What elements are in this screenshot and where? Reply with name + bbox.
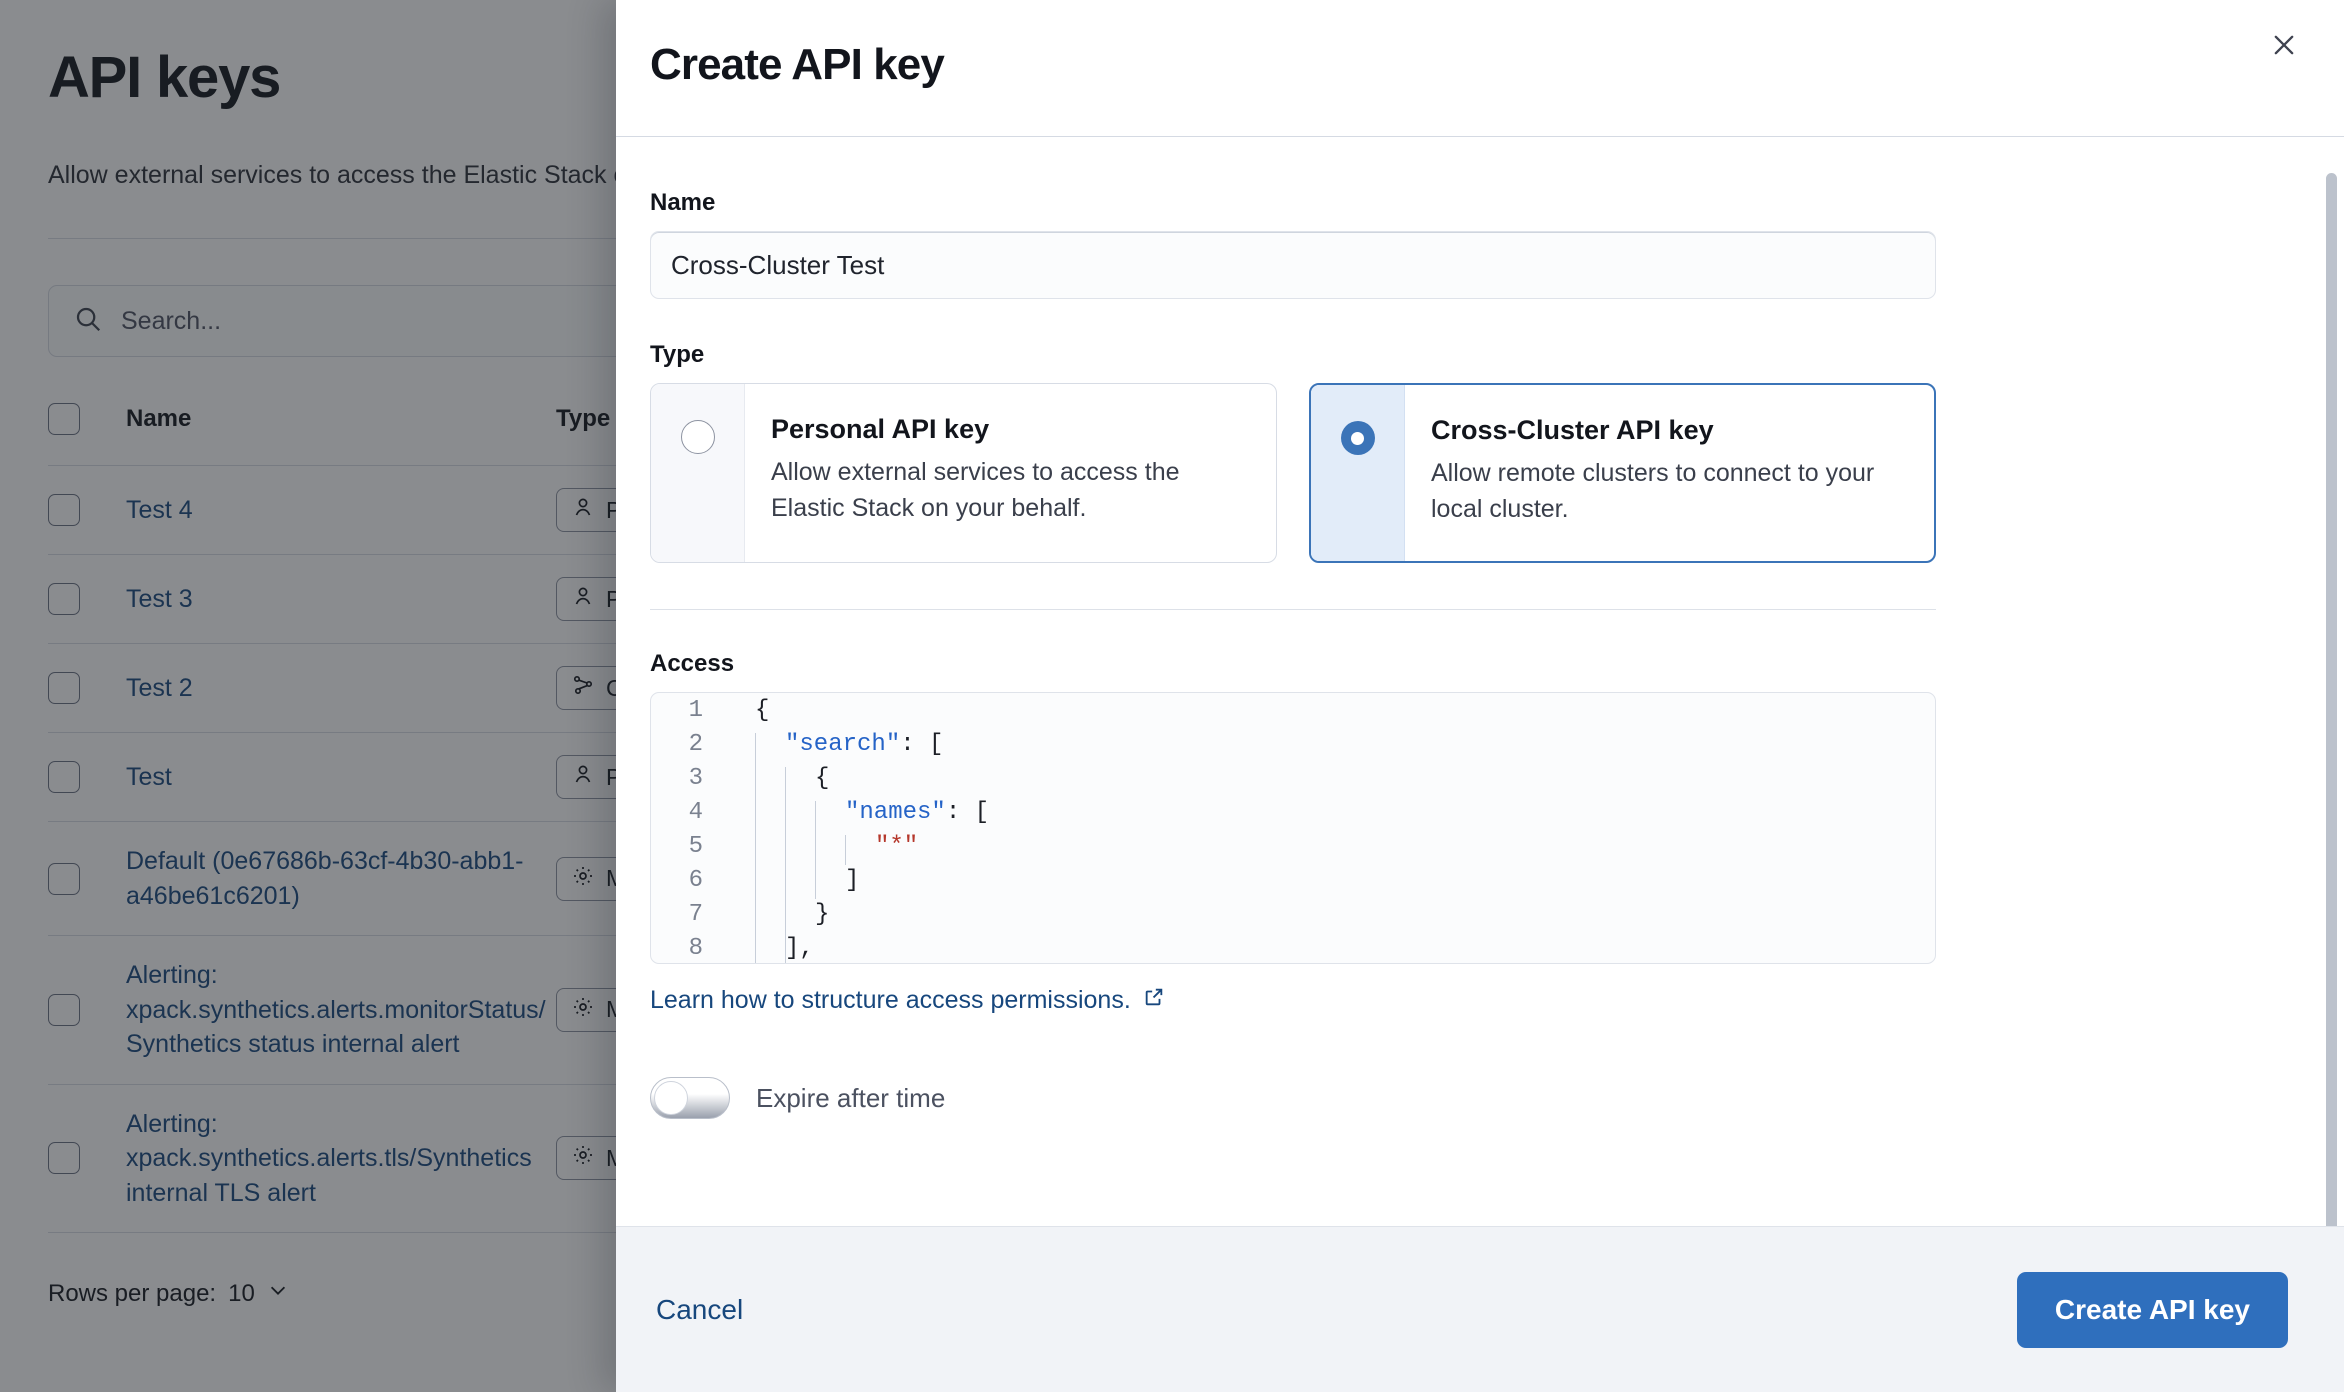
- cancel-button[interactable]: Cancel: [656, 1294, 743, 1326]
- code-token: ]: [845, 867, 859, 894]
- name-field-group: Name: [650, 189, 1936, 299]
- flyout-body: Name Type Personal API key Allow externa…: [616, 137, 2344, 1226]
- code-line: 7}: [651, 897, 1935, 931]
- radio-card-title: Personal API key: [771, 414, 1250, 445]
- expire-after-time-label: Expire after time: [756, 1083, 945, 1114]
- learn-permissions-link-text: Learn how to structure access permission…: [650, 986, 1131, 1015]
- flyout-footer: Cancel Create API key: [616, 1226, 2344, 1392]
- code-token: : [: [946, 799, 989, 826]
- line-number: 6: [651, 867, 729, 894]
- code-token: "search": [785, 731, 900, 758]
- code-token: {: [755, 697, 769, 724]
- radio-card-description: Allow remote clusters to connect to your…: [1431, 456, 1908, 527]
- line-number: 4: [651, 799, 729, 826]
- code-text: {: [755, 697, 769, 724]
- radio-zone: [1311, 385, 1405, 561]
- code-line: 1{: [651, 693, 1935, 727]
- indent-guide: [755, 733, 756, 964]
- radio-zone: [651, 384, 745, 562]
- code-text: ],: [785, 935, 814, 962]
- flyout-scrollbar[interactable]: [2324, 163, 2338, 1208]
- code-line: 8],: [651, 931, 1935, 964]
- code-text: ]: [845, 867, 859, 894]
- line-number: 3: [651, 765, 729, 792]
- section-divider: [650, 609, 1936, 610]
- content-fade-mask: [616, 1178, 2344, 1226]
- access-field-group: Access 1{2"search": [3{4"names": [5"*"6]…: [650, 650, 1936, 1015]
- code-token: "names": [845, 799, 946, 826]
- expire-after-time-toggle[interactable]: [650, 1077, 730, 1119]
- close-button[interactable]: [2256, 18, 2312, 74]
- code-text: "*": [875, 833, 918, 860]
- access-code-editor[interactable]: 1{2"search": [3{4"names": [5"*"6]7}8],9"…: [650, 692, 1936, 964]
- code-text: {: [815, 765, 829, 792]
- code-token: : [: [900, 731, 943, 758]
- line-number: 1: [651, 697, 729, 724]
- learn-permissions-link[interactable]: Learn how to structure access permission…: [650, 986, 1165, 1015]
- access-label: Access: [650, 650, 1936, 678]
- type-label: Type: [650, 341, 1936, 369]
- code-line: 2"search": [: [651, 727, 1935, 761]
- indent-guide: [845, 835, 846, 865]
- name-input[interactable]: [650, 231, 1936, 299]
- name-label: Name: [650, 189, 1936, 217]
- close-icon: [2270, 31, 2298, 62]
- line-number: 5: [651, 833, 729, 860]
- code-line: 4"names": [: [651, 795, 1935, 829]
- radio-selected-icon[interactable]: [1341, 421, 1375, 455]
- radio-card-cross-cluster-api-key[interactable]: Cross-Cluster API key Allow remote clust…: [1309, 383, 1936, 563]
- flyout-header: Create API key: [616, 0, 2344, 137]
- type-field-group: Type Personal API key Allow external ser…: [650, 341, 1936, 563]
- code-token: }: [815, 901, 829, 928]
- line-number: 7: [651, 901, 729, 928]
- create-api-key-button[interactable]: Create API key: [2017, 1272, 2288, 1348]
- code-text: }: [815, 901, 829, 928]
- code-text: "names": [: [845, 799, 989, 826]
- radio-card-personal-api-key[interactable]: Personal API key Allow external services…: [650, 383, 1277, 563]
- scrollbar-thumb[interactable]: [2326, 173, 2337, 1226]
- indent-guide: [815, 801, 816, 899]
- expire-after-time-row[interactable]: Expire after time: [650, 1077, 1936, 1119]
- code-token: {: [815, 765, 829, 792]
- external-link-icon: [1143, 986, 1165, 1015]
- radio-card-title: Cross-Cluster API key: [1431, 415, 1908, 446]
- line-number: 2: [651, 731, 729, 758]
- code-token: ],: [785, 935, 814, 962]
- code-token: "*": [875, 833, 918, 860]
- radio-card-description: Allow external services to access the El…: [771, 455, 1250, 526]
- code-line: 6]: [651, 863, 1935, 897]
- radio-unselected-icon[interactable]: [681, 420, 715, 454]
- code-line: 3{: [651, 761, 1935, 795]
- create-api-key-flyout: Create API key Name Type: [616, 0, 2344, 1392]
- flyout-title: Create API key: [650, 40, 2288, 90]
- line-number: 8: [651, 935, 729, 962]
- code-text: "search": [: [785, 731, 943, 758]
- code-line: 5"*": [651, 829, 1935, 863]
